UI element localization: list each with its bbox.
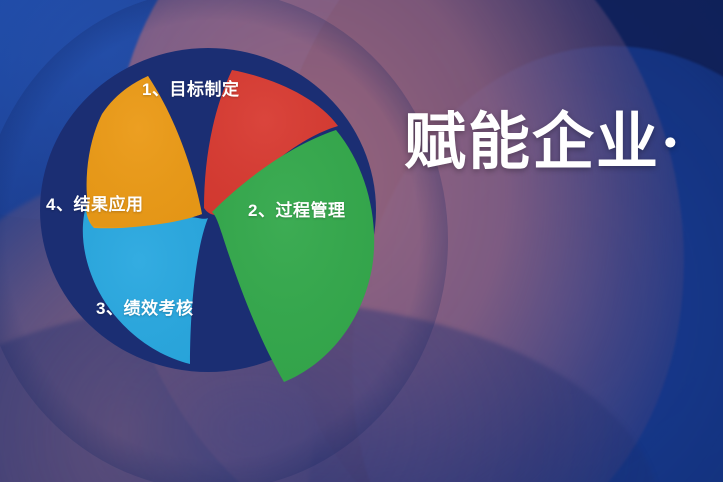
slide-headline: 赋能企业·	[404, 112, 683, 174]
presentation-slide: 1、目标制定 2、过程管理 3、绩效考核 4、结果应用 赋能企业·	[0, 0, 723, 482]
petal-performance-appraisal-shade	[83, 206, 208, 364]
pinwheel-diagram	[36, 42, 396, 388]
